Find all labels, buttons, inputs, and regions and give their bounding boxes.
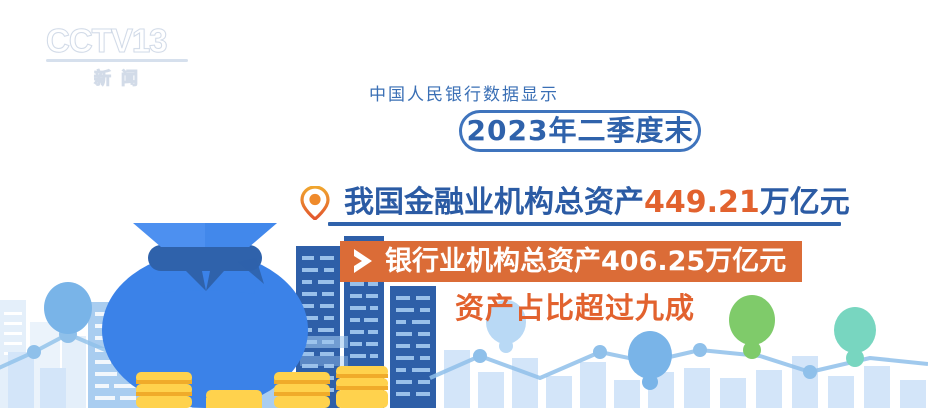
source-kicker: 中国人民银行数据显示 — [0, 80, 928, 105]
chevron-right-icon — [348, 246, 378, 276]
stat1-unit: 万亿元 — [760, 185, 850, 220]
balloon-cluster-left — [0, 282, 110, 372]
location-pin-icon — [300, 186, 330, 220]
money-bag-icon — [102, 223, 308, 408]
skyline-far-left — [0, 300, 86, 408]
balloon-green-right — [729, 295, 775, 359]
background-line-chart-right — [430, 343, 928, 379]
stat1-label: 我国金融业机构总资产 — [344, 185, 644, 220]
cctv-logo-text: CCTV13 — [46, 24, 196, 57]
cctv-watermark-icon: CCTV13 新闻 — [46, 24, 196, 86]
background-bar-chart-right — [444, 350, 926, 408]
period-badge-label: 2023年二季度末 — [467, 117, 694, 145]
infographic-canvas: CCTV13 新闻 中国人民银行数据显示 2023年二季度末 我国金融业机构总资… — [0, 0, 928, 408]
balloon-blue-right — [628, 331, 672, 390]
stat-line-total-financial-assets: 我国金融业机构总资产449.21万亿元 — [300, 183, 850, 223]
stat3-share-text: 资产占比超过九成 — [455, 294, 695, 323]
cctv-logo-rule — [46, 59, 188, 62]
stat1-value: 449.21 — [644, 185, 760, 220]
period-badge: 2023年二季度末 — [459, 110, 701, 152]
coin-stack-icon — [136, 366, 388, 408]
stat1-underline — [328, 222, 841, 226]
background-bar-chart-left — [8, 352, 66, 408]
balloon-teal-right — [834, 307, 876, 367]
skyline-left — [88, 276, 280, 408]
stat2-text: 银行业机构总资产406.25万亿元 — [385, 241, 786, 282]
